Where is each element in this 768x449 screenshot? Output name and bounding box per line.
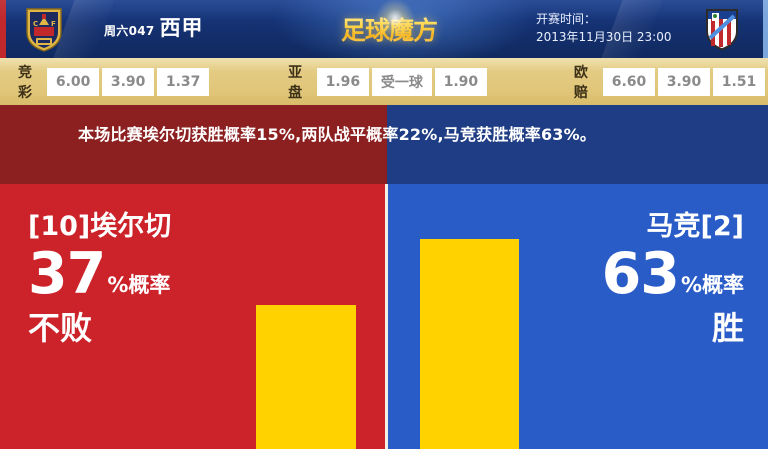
probability-bar-chart: [10]埃尔切 37 %概率 不败 马竞[2] 63 %概率 胜 [0,184,768,449]
odds-cell[interactable]: 1.51 [713,68,765,96]
site-logo-text: 足球魔方 [341,11,437,47]
away-team-name: 马竞[2] [602,210,744,244]
away-outcome-label: 胜 [602,309,744,347]
svg-text:C: C [33,20,38,28]
match-probability-infographic: C F 周六047西甲 足球魔方 开赛时间： 2013年11月30日 23:00 [0,0,768,449]
odds-cell[interactable]: 1.96 [317,68,369,96]
match-round-label: 周六047 [104,24,155,38]
probability-summary-text: 本场比赛埃尔切获胜概率15%,两队战平概率22%,马竞获胜概率63%。 [78,121,698,148]
odds-cell[interactable]: 1.37 [157,68,209,96]
match-league-label: 西甲 [160,16,204,40]
odds-cell[interactable]: 6.60 [603,68,655,96]
away-probability-row: 63 %概率 [602,246,744,303]
away-team-panel: 马竞[2] 63 %概率 胜 [387,184,768,449]
odds-group-label: 欧赔 [574,62,596,102]
home-probability-row: 37 %概率 [28,246,171,303]
away-probability-bar [420,239,519,449]
odds-cell[interactable]: 3.90 [658,68,710,96]
odds-group-label: 竞彩 [18,62,40,102]
odds-cell[interactable]: 6.00 [47,68,99,96]
away-probability-value: 63 [602,246,679,303]
odds-group-yapan: 亚盘 1.96 受一球 1.90 [288,68,490,96]
away-team-crest-icon [698,5,746,53]
site-logo: 足球魔方 [329,6,449,52]
home-team-name: [10]埃尔切 [28,210,171,244]
odds-bar: 竞彩 6.00 3.90 1.37 亚盘 1.96 受一球 1.90 欧赔 6.… [0,58,768,105]
away-probability-unit: %概率 [681,275,744,303]
probability-summary-banner: 本场比赛埃尔切获胜概率15%,两队战平概率22%,马竞获胜概率63%。 [0,105,768,184]
panel-divider [385,184,388,449]
kickoff-value: 2013年11月30日 23:00 [536,28,671,46]
kickoff-label: 开赛时间： [536,10,671,28]
odds-group-oupei: 欧赔 6.60 3.90 1.51 [574,68,768,96]
home-team-stats: [10]埃尔切 37 %概率 不败 [28,210,171,347]
odds-cell[interactable]: 3.90 [102,68,154,96]
odds-cell[interactable]: 1.90 [435,68,487,96]
kickoff-info: 开赛时间： 2013年11月30日 23:00 [536,10,671,46]
odds-group-label: 亚盘 [288,62,310,102]
home-outcome-label: 不败 [28,309,171,347]
home-probability-bar [256,305,356,449]
home-probability-unit: %概率 [107,275,170,303]
home-team-panel: [10]埃尔切 37 %概率 不败 [0,184,387,449]
away-team-stats: 马竞[2] 63 %概率 胜 [602,210,744,347]
match-title: 周六047西甲 [104,12,204,42]
home-probability-value: 37 [28,246,105,303]
home-team-crest-icon: C F [20,5,68,53]
odds-group-jingcai: 竞彩 6.00 3.90 1.37 [18,68,212,96]
header-bar: C F 周六047西甲 足球魔方 开赛时间： 2013年11月30日 23:00 [0,0,768,58]
odds-cell-handicap[interactable]: 受一球 [372,68,432,96]
svg-text:F: F [51,20,56,28]
